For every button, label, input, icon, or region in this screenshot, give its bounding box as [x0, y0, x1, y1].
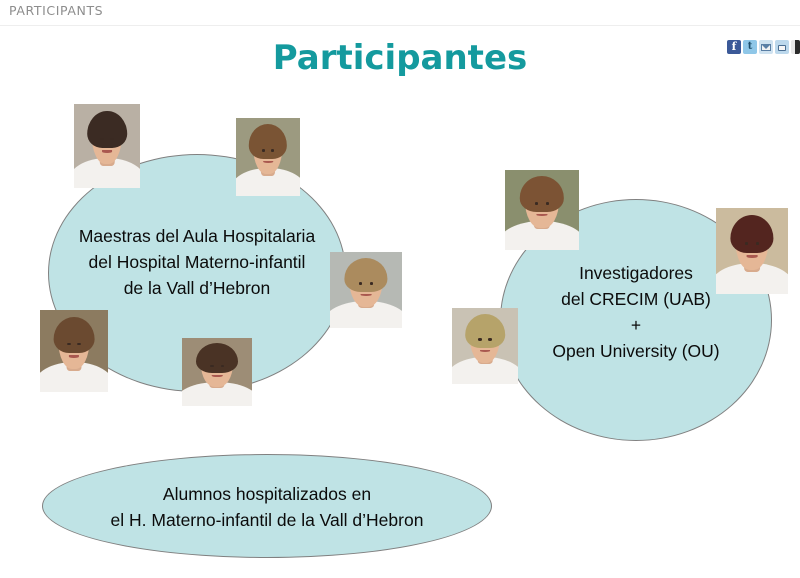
portrait-teacher-3 — [330, 252, 402, 328]
group-teachers-line-1: Maestras del Aula Hospitalaria — [49, 223, 345, 249]
participants-diagram: Maestras del Aula Hospitalaria del Hospi… — [0, 0, 800, 578]
portrait-teacher-2 — [236, 118, 300, 196]
group-teachers-line-2: del Hospital Materno-infantil — [49, 249, 345, 275]
portrait-researcher-1 — [505, 170, 579, 250]
group-students-line-1: Alumnos hospitalizados en — [43, 481, 491, 507]
group-students-line-2: el H. Materno-infantil de la Vall d’Hebr… — [43, 507, 491, 533]
group-students-ellipse: Alumnos hospitalizados en el H. Materno-… — [42, 454, 492, 558]
portrait-teacher-5 — [182, 338, 252, 406]
group-teachers-line-3: de la Vall d’Hebron — [49, 275, 345, 301]
group-students-text: Alumnos hospitalizados en el H. Materno-… — [43, 481, 491, 533]
portrait-researcher-3 — [452, 308, 518, 384]
group-researchers-line-4: Open University (OU) — [501, 338, 771, 364]
portrait-researcher-2 — [716, 208, 788, 294]
group-teachers-text: Maestras del Aula Hospitalaria del Hospi… — [49, 223, 345, 301]
portrait-teacher-1 — [74, 104, 140, 188]
portrait-teacher-4 — [40, 310, 108, 392]
group-researchers-line-3: + — [501, 312, 771, 338]
